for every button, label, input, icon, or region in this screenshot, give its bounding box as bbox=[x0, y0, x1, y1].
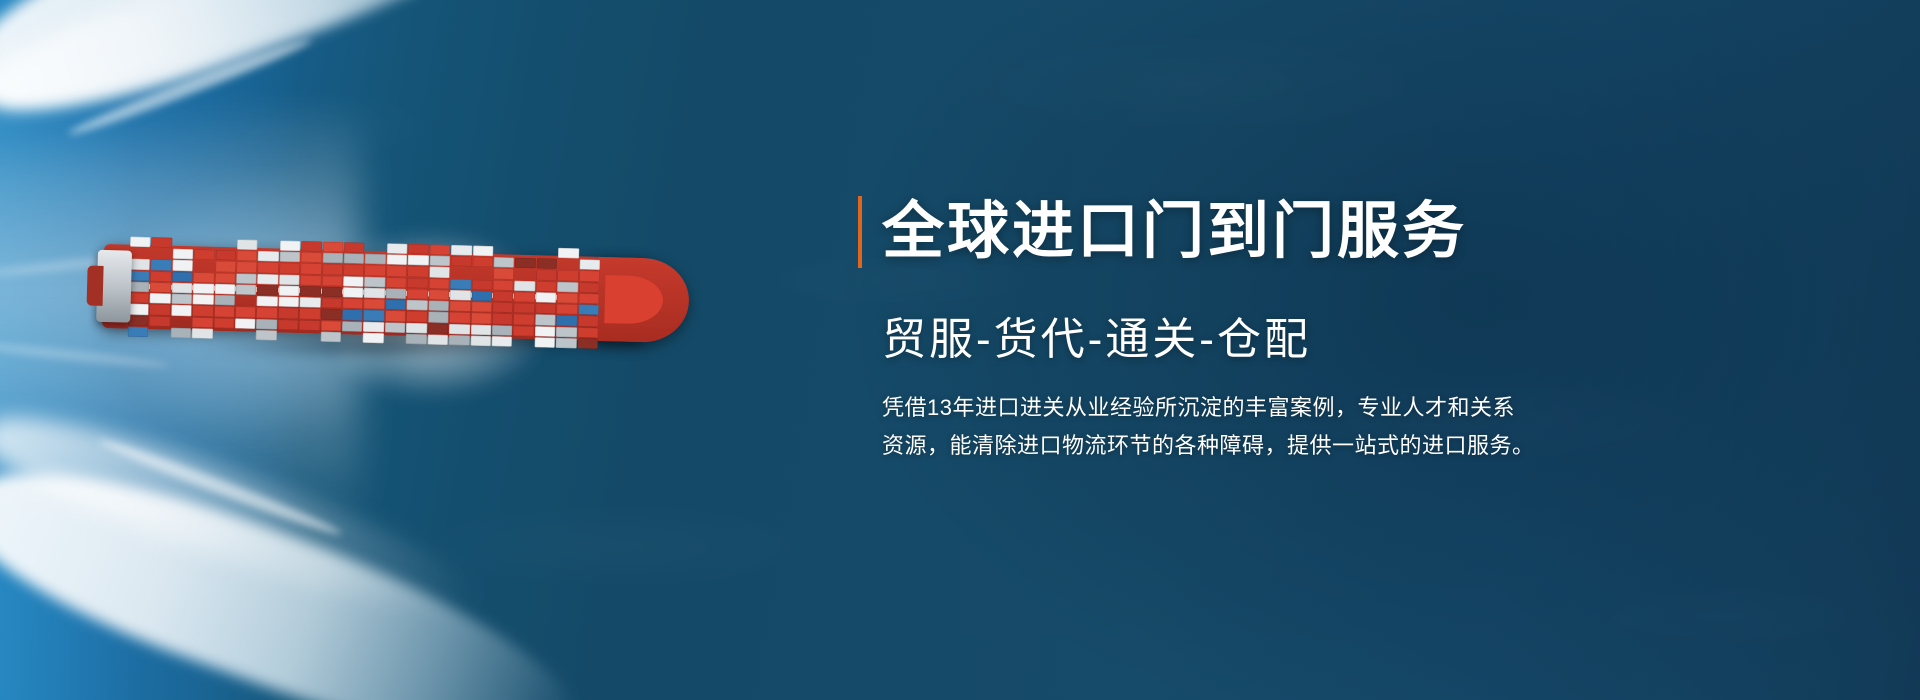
container-ship bbox=[102, 236, 644, 350]
ship-stern bbox=[87, 266, 104, 306]
cargo-containers bbox=[128, 237, 600, 349]
headline-row: 全球进口门到门服务 bbox=[858, 196, 1818, 268]
banner-subtitle: 贸服-货代-通关-仓配 bbox=[882, 314, 1818, 367]
hero-banner: 全球进口门到门服务 贸服-货代-通关-仓配 凭借13年进口进关从业经验所沉淀的丰… bbox=[0, 0, 1920, 700]
description-line-1: 凭借13年进口进关从业经验所沉淀的丰富案例，专业人才和关系 bbox=[882, 389, 1594, 427]
banner-copy: 全球进口门到门服务 贸服-货代-通关-仓配 凭借13年进口进关从业经验所沉淀的丰… bbox=[858, 196, 1818, 464]
banner-description: 凭借13年进口进关从业经验所沉淀的丰富案例，专业人才和关系 资源，能清除进口物流… bbox=[882, 389, 1594, 465]
page-title: 全球进口门到门服务 bbox=[882, 196, 1467, 268]
description-line-2: 资源，能清除进口物流环节的各种障碍，提供一站式的进口服务。 bbox=[882, 427, 1594, 465]
accent-bar bbox=[858, 196, 862, 268]
